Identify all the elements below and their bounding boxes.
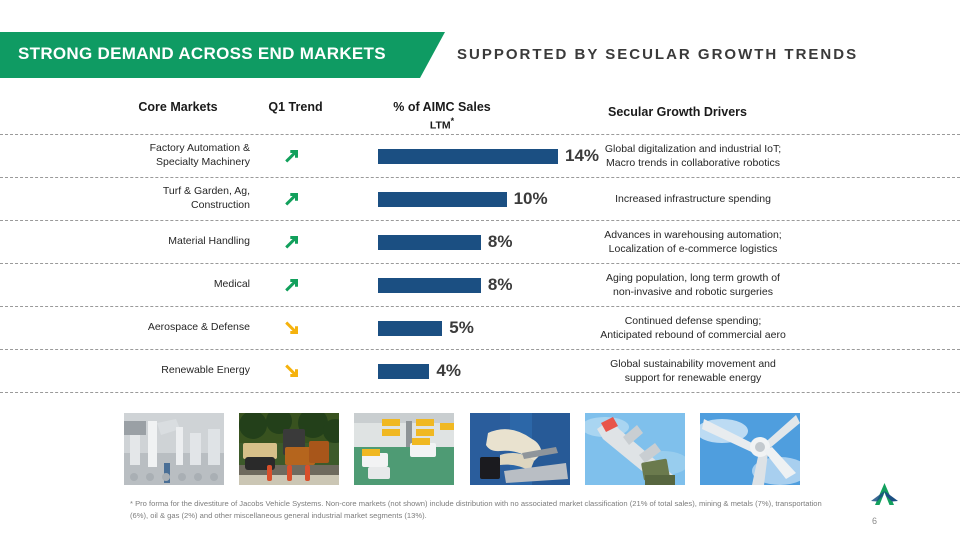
- sales-share-bar: [378, 192, 507, 207]
- company-logo-icon: [868, 482, 902, 508]
- table-row: Turf & Garden, Ag,Construction10%Increas…: [0, 177, 960, 220]
- slide: STRONG DEMAND ACROSS END MARKETS SUPPORT…: [0, 0, 960, 540]
- sales-share-value: 10%: [514, 189, 548, 209]
- trend-arrow-up-icon: [262, 275, 320, 295]
- sales-share-value: 5%: [449, 318, 474, 338]
- sales-share-value: 8%: [488, 275, 513, 295]
- growth-driver-text: Global digitalization and industrial IoT…: [586, 142, 800, 170]
- wind-turbine-photo: [700, 413, 800, 485]
- trend-arrow-down-icon: [262, 361, 320, 381]
- factory-automation-robot-photo: [124, 413, 224, 485]
- markets-table: Factory Automation &Specialty Machinery1…: [0, 134, 960, 393]
- photo-strip: [124, 413, 800, 485]
- market-label: Turf & Garden, Ag,Construction: [98, 185, 250, 213]
- sales-share-bar: [378, 149, 558, 164]
- page-subtitle: SUPPORTED BY SECULAR GROWTH TRENDS: [457, 46, 858, 63]
- growth-driver-text: Aging population, long term growth ofnon…: [586, 271, 800, 299]
- warehouse-agv-robots-photo: [354, 413, 454, 485]
- page-title: STRONG DEMAND ACROSS END MARKETS: [18, 44, 386, 64]
- market-label: Renewable Energy: [98, 364, 250, 378]
- slide-header: STRONG DEMAND ACROSS END MARKETS SUPPORT…: [0, 32, 960, 78]
- sales-share-value: 4%: [436, 361, 461, 381]
- sales-share-bar: [378, 321, 442, 336]
- footnote-asterisk-marker: *: [451, 116, 455, 126]
- growth-driver-text: Increased infrastructure spending: [586, 192, 800, 206]
- sales-share-bar: [378, 278, 481, 293]
- trend-arrow-up-icon: [262, 232, 320, 252]
- sales-share-bar-group: 10%: [378, 189, 548, 209]
- market-label: Material Handling: [98, 235, 250, 249]
- market-label: Medical: [98, 278, 250, 292]
- growth-driver-text: Continued defense spending;Anticipated r…: [586, 314, 800, 342]
- sales-share-bar: [378, 364, 429, 379]
- column-header-aimc-sales: % of AIMC Sales LTM*: [352, 100, 532, 132]
- table-row: Material Handling8%Advances in warehousi…: [0, 220, 960, 263]
- table-row: Medical8%Aging population, long term gro…: [0, 263, 960, 306]
- column-header-aimc-sales-line1: % of AIMC Sales: [393, 100, 490, 114]
- trend-arrow-up-icon: [262, 146, 320, 166]
- table-row: Renewable Energy4%Global sustainability …: [0, 349, 960, 393]
- sales-share-value: 8%: [488, 232, 513, 252]
- sales-share-bar-group: 4%: [378, 361, 461, 381]
- footnote-text: * Pro forma for the divestiture of Jacob…: [130, 498, 830, 522]
- aerospace-missile-photo: [585, 413, 685, 485]
- market-label: Aerospace & Defense: [98, 321, 250, 335]
- sales-share-bar-group: 8%: [378, 275, 512, 295]
- page-number: 6: [872, 516, 877, 526]
- table-row: Aerospace & Defense5%Continued defense s…: [0, 306, 960, 349]
- sales-share-bar-group: 5%: [378, 318, 474, 338]
- growth-driver-text: Advances in warehousing automation;Local…: [586, 228, 800, 256]
- column-header-q1-trend: Q1 Trend: [248, 100, 343, 116]
- trend-arrow-up-icon: [262, 189, 320, 209]
- sales-share-bar: [378, 235, 481, 250]
- road-construction-roller-photo: [239, 413, 339, 485]
- medical-surgery-photo: [470, 413, 570, 485]
- trend-arrow-down-icon: [262, 318, 320, 338]
- sales-share-bar-group: 8%: [378, 232, 512, 252]
- table-row: Factory Automation &Specialty Machinery1…: [0, 134, 960, 177]
- column-header-secular-growth-drivers: Secular Growth Drivers: [580, 105, 775, 121]
- column-header-core-markets: Core Markets: [108, 100, 248, 116]
- growth-driver-text: Global sustainability movement andsuppor…: [586, 357, 800, 385]
- column-header-aimc-sales-line2: LTM*: [352, 116, 532, 133]
- sales-share-bar-group: 14%: [378, 146, 599, 166]
- market-label: Factory Automation &Specialty Machinery: [98, 142, 250, 170]
